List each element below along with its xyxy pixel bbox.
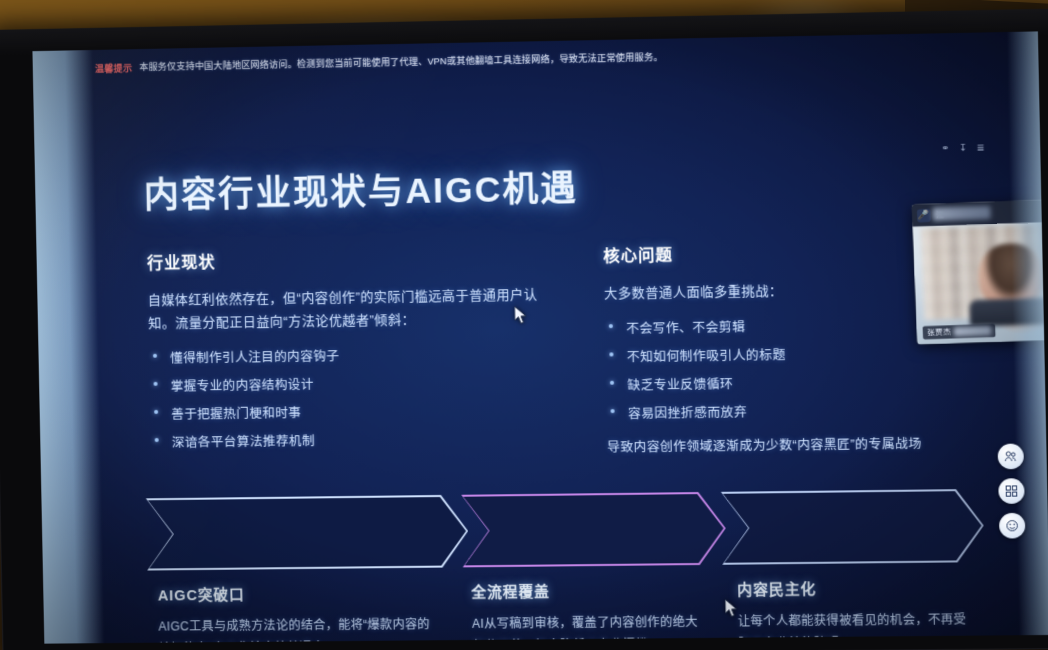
list-item: 缺乏专业反馈循环 — [606, 369, 977, 393]
left-column-bullets: 懂得制作引人注目的内容钩子 掌握专业的内容结构设计 善于把握热门梗和时事 深谙各… — [149, 342, 556, 451]
card-body: AIGC工具与成熟方法论的结合，能将“爆款内容的认知能力”产品化输出给普通人 — [158, 613, 442, 644]
card-heading: 全流程覆盖 — [471, 579, 706, 602]
people-icon[interactable] — [998, 444, 1024, 470]
participant-name-label: 张贾杰 — [923, 324, 996, 340]
presentation-slide: 内容行业现状与AIGC机遇 行业现状 自媒体红利依然存在，但“内容创作”的实际门… — [34, 88, 1048, 643]
summary-card: AIGC突破口 AIGC工具与成熟方法论的结合，能将“爆款内容的认知能力”产品化… — [158, 582, 443, 644]
microphone-muted-icon[interactable]: 🎤 — [917, 208, 931, 222]
list-item: 容易因挫折感而放弃 — [606, 398, 977, 422]
grid-icon[interactable] — [998, 478, 1024, 504]
warning-text: 本服务仅支持中国大陆地区网络访问。检测到您当前可能使用了代理、VPN或其他翻墙工… — [139, 51, 663, 73]
chevron-process-row — [146, 489, 985, 577]
room-photo: 温馨提示 本服务仅支持中国大陆地区网络访问。检测到您当前可能使用了代理、VPN或… — [0, 0, 1048, 650]
summary-card: 内容民主化 让每个人都能获得被看见的机会，不再受限于专业技能障碍 — [737, 577, 976, 644]
chevron-step-2 — [461, 492, 726, 568]
card-heading: AIGC突破口 — [158, 582, 441, 606]
summary-card: 全流程覆盖 AI从写稿到审核，覆盖了内容创作的绝大部分环节，极大降低了专业门槛 — [471, 579, 708, 644]
page-title: 内容行业现状与AIGC机遇 — [143, 160, 578, 219]
card-heading: 内容民主化 — [737, 577, 975, 601]
chevron-step-1 — [146, 495, 469, 571]
left-column-paragraph: 自媒体红利依然存在，但“内容创作”的实际门槛远高于普通用户认知。流量分配正日益向… — [148, 283, 554, 335]
pip-title-blur — [932, 206, 991, 221]
list-item: 掌握专业的内容结构设计 — [149, 370, 555, 395]
list-item: 不知如何制作吸引人的标题 — [605, 341, 976, 365]
warning-tag: 温馨提示 — [95, 61, 133, 75]
television-display: 温馨提示 本服务仅支持中国大陆地区网络访问。检测到您当前可能使用了代理、VPN或… — [0, 9, 1048, 650]
right-column-footer: 导致内容创作领域逐渐成为少数“内容黑匠”的专属战场 — [607, 432, 978, 456]
floating-toolbar[interactable] — [998, 444, 1026, 539]
left-column-heading: 行业现状 — [147, 243, 553, 274]
list-item: 深谙各平台算法推荐机制 — [150, 426, 556, 450]
participant-name-blur — [954, 326, 992, 336]
summary-cards: AIGC突破口 AIGC工具与成熟方法论的结合，能将“爆款内容的认知能力”产品化… — [148, 576, 998, 643]
list-item: 懂得制作引人注目的内容钩子 — [149, 342, 555, 367]
chevron-step-3 — [721, 489, 985, 565]
screen-left-glare — [32, 50, 104, 644]
list-item: 善于把握热门梗和时事 — [150, 398, 556, 422]
screen-content: 温馨提示 本服务仅支持中国大陆地区网络访问。检测到您当前可能使用了代理、VPN或… — [32, 31, 1048, 643]
left-column: 行业现状 自媒体红利依然存在，但“内容创作”的实际门槛远高于普通用户认知。流量分… — [147, 243, 556, 460]
emoji-icon[interactable] — [999, 513, 1025, 539]
participant-name: 张贾杰 — [927, 326, 952, 338]
